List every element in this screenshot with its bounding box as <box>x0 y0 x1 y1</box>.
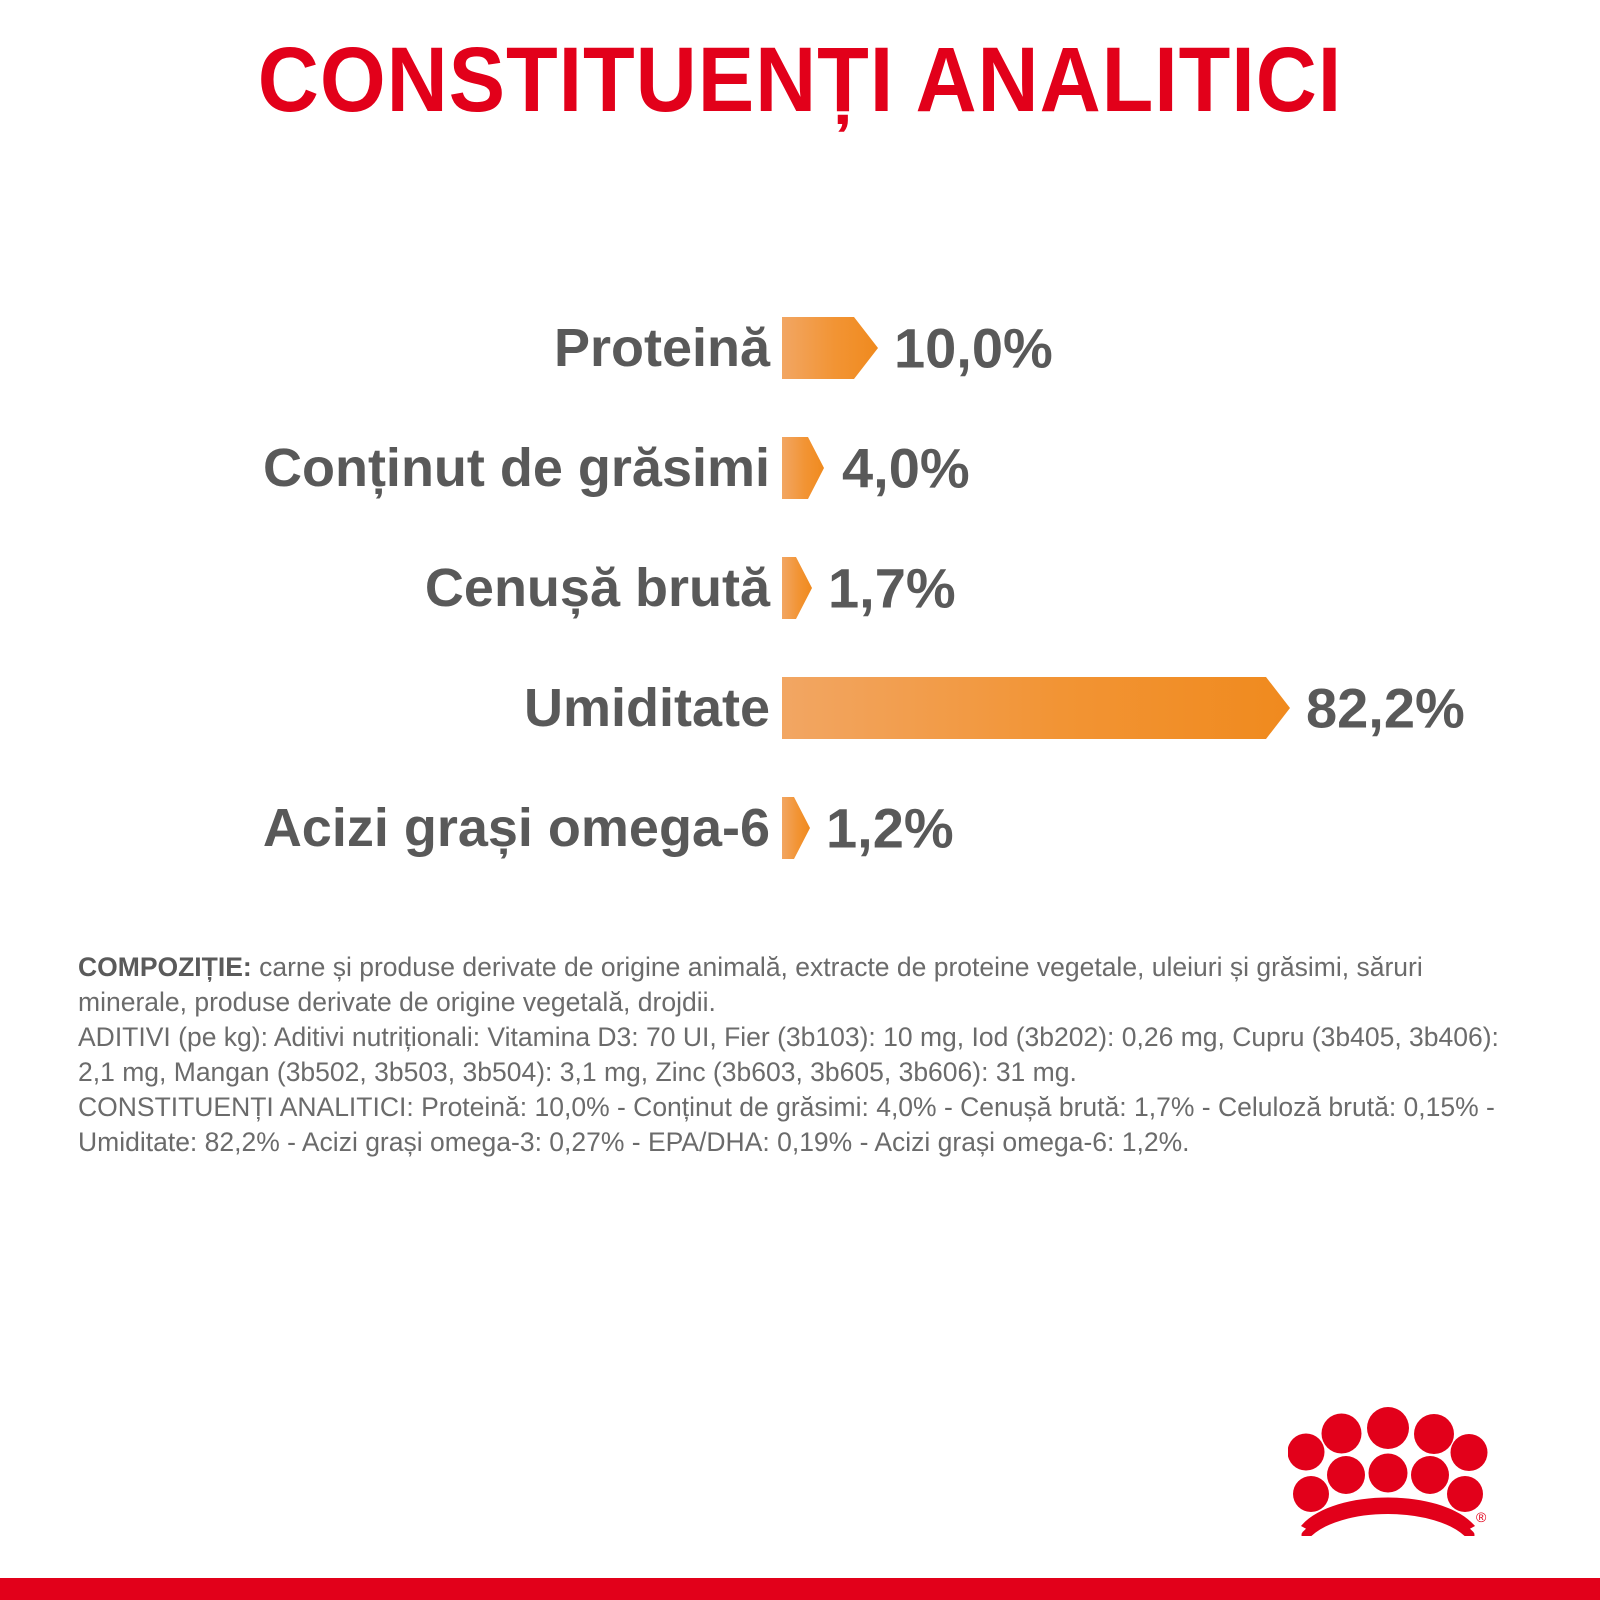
nutrient-value: 82,2% <box>1306 676 1465 741</box>
registered-trademark-mark: ® <box>1476 1509 1487 1525</box>
nutrient-row: Acizi grași omega-6 1,2% <box>0 768 1600 888</box>
nutrient-bar <box>782 557 812 619</box>
nutrient-row: Proteină 10,0% <box>0 288 1600 408</box>
nutrient-row: Umiditate 82,2% <box>0 648 1600 768</box>
nutrient-bar-wrapper <box>782 557 812 619</box>
nutrient-value: 1,2% <box>826 796 954 861</box>
nutrient-label: Proteină <box>0 317 770 379</box>
nutrient-label: Acizi grași omega-6 <box>0 797 770 859</box>
additives-paragraph: ADITIVI (pe kg): Aditivi nutriționali: V… <box>78 1020 1530 1090</box>
nutrient-bar-wrapper <box>782 797 810 859</box>
nutrient-row: Cenușă brută 1,7% <box>0 528 1600 648</box>
nutrient-bar <box>782 317 878 379</box>
nutrient-bar-wrapper <box>782 437 824 499</box>
nutrient-bar-wrapper <box>782 317 878 379</box>
page-title: CONSTITUENȚI ANALITICI <box>64 34 1536 126</box>
nutrient-label: Umiditate <box>0 677 770 739</box>
nutrient-bar-wrapper <box>782 677 1290 739</box>
nutrient-value: 10,0% <box>894 316 1053 381</box>
royal-canin-crown-logo: ® <box>1288 1404 1488 1536</box>
analytical-constituents-paragraph: CONSTITUENȚI ANALITICI: Proteină: 10,0% … <box>78 1090 1530 1160</box>
nutrient-bar <box>782 437 824 499</box>
nutrient-value: 1,7% <box>828 556 956 621</box>
composition-text: carne și produse derivate de origine ani… <box>78 952 1423 1017</box>
nutrient-row: Conținut de grăsimi 4,0% <box>0 408 1600 528</box>
nutrient-bar <box>782 797 810 859</box>
nutrient-value: 4,0% <box>842 436 970 501</box>
analytical-constituents-chart: Proteină 10,0% Conținut de grăsimi 4,0% … <box>0 288 1600 888</box>
nutrient-label: Cenușă brută <box>0 557 770 619</box>
nutrient-bar <box>782 677 1290 739</box>
composition-lead-label: COMPOZIȚIE: <box>78 952 252 982</box>
footer-bar <box>0 1578 1600 1600</box>
composition-paragraph: COMPOZIȚIE: carne și produse derivate de… <box>78 950 1530 1020</box>
nutrient-label: Conținut de grăsimi <box>0 437 770 499</box>
composition-block: COMPOZIȚIE: carne și produse derivate de… <box>78 950 1530 1160</box>
